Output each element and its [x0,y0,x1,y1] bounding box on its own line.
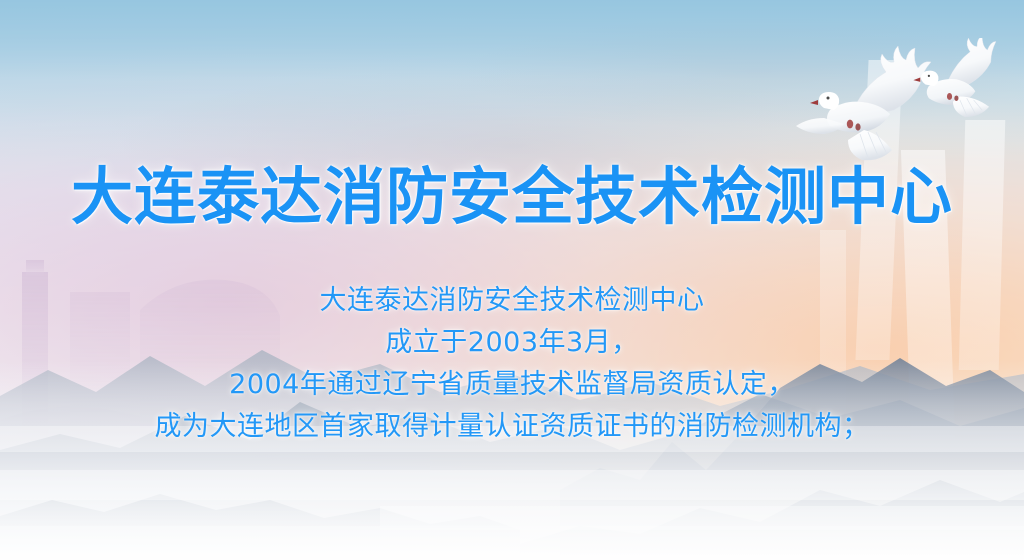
subtext-line-3: 2004年通过辽宁省质量技术监督局资质认定， [0,364,1024,406]
dove-group [794,38,1024,178]
banner-subtext: 大连泰达消防安全技术检测中心 成立于2003年3月， 2004年通过辽宁省质量技… [0,280,1024,448]
subtext-line-2: 成立于2003年3月， [0,322,1024,364]
subtext-line-1: 大连泰达消防安全技术检测中心 [0,280,1024,322]
banner-headline: 大连泰达消防安全技术检测中心 [0,166,1024,228]
subtext-line-4: 成为大连地区首家取得计量认证资质证书的消防检测机构； [0,406,1024,448]
dove-icon-left [796,46,931,160]
promotional-banner: 大连泰达消防安全技术检测中心 大连泰达消防安全技术检测中心 成立于2003年3月… [0,0,1024,560]
dove-icon-right [913,38,996,117]
